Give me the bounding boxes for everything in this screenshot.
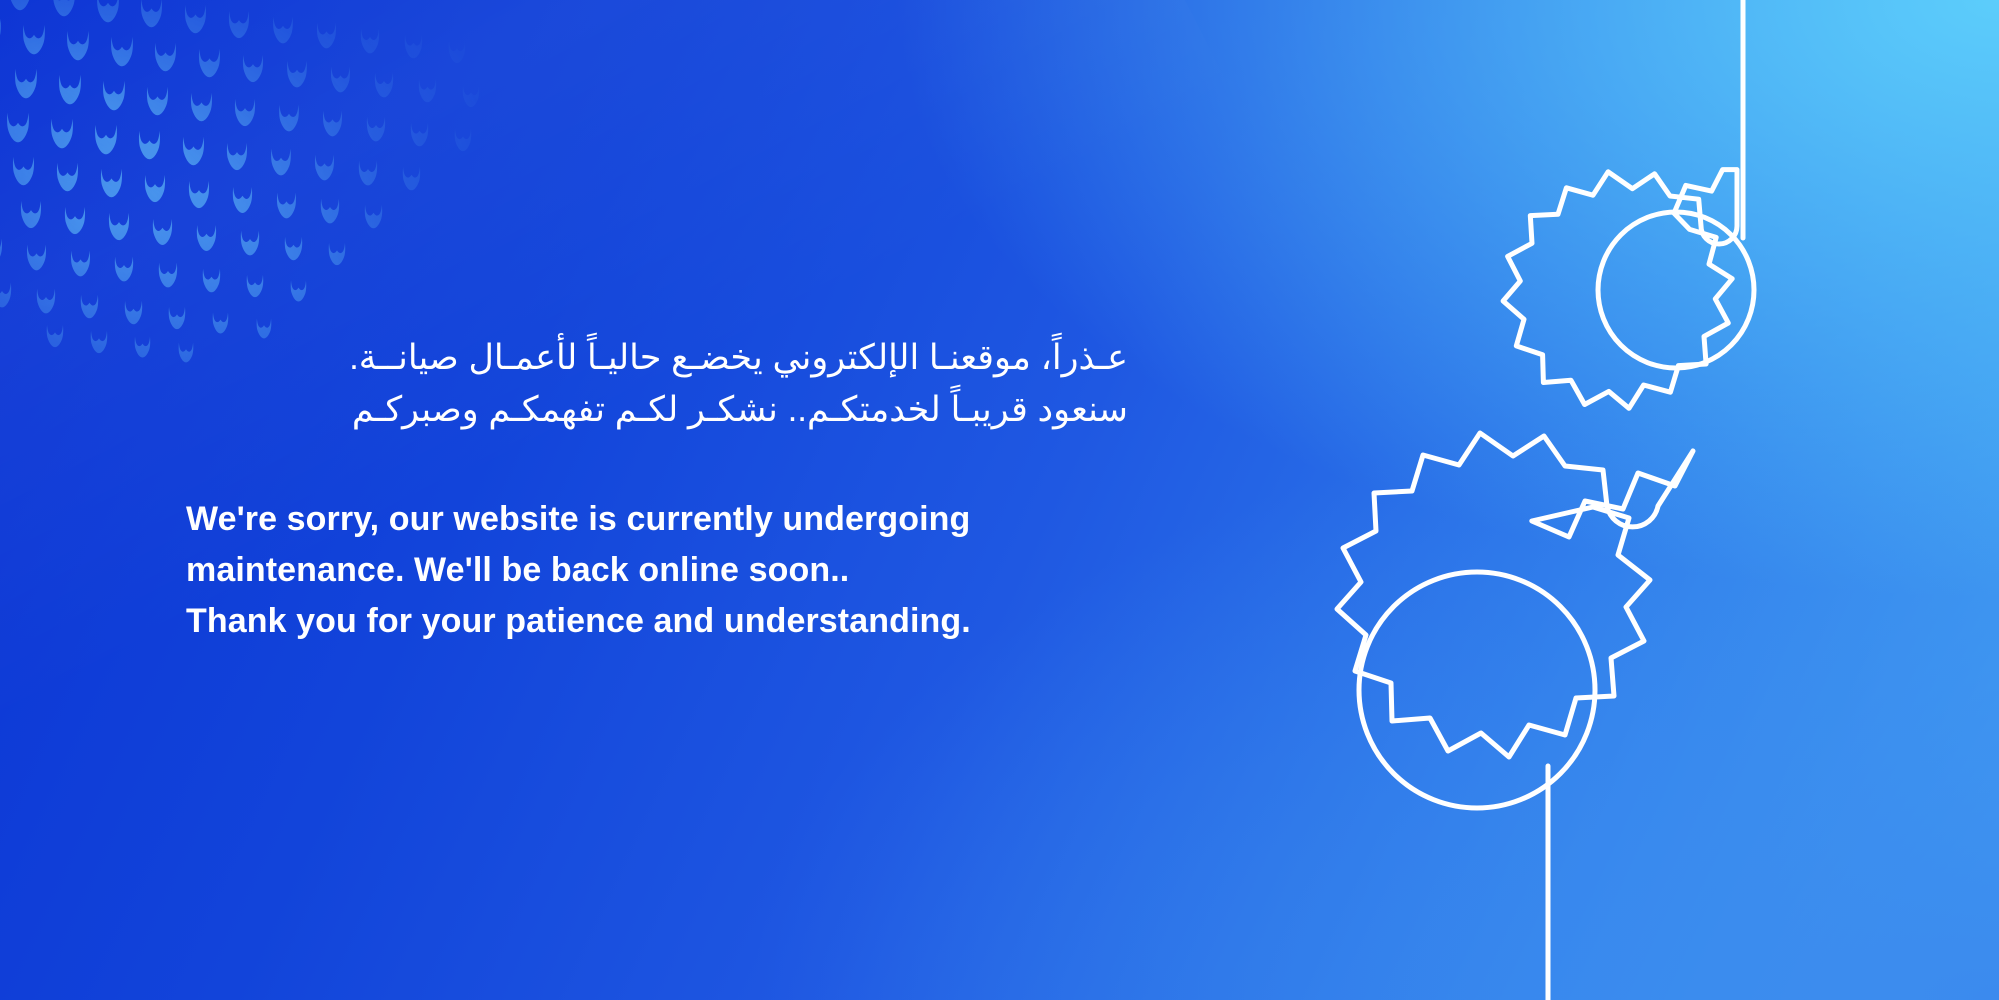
english-line-3: Thank you for your patience and understa… <box>186 596 1146 647</box>
maintenance-page: عـذراً، موقعنـا الإلكتروني يخضـع حاليـاً… <box>0 0 1999 1000</box>
arabic-line-1: عـذراً، موقعنـا الإلكتروني يخضـع حاليـاً… <box>186 332 1128 384</box>
tulip-chevron-pattern <box>0 0 506 386</box>
arabic-line-2: سنعود قريبـاً لخدمتكـم.. نشكـر لكـم تفهم… <box>186 384 1128 436</box>
gear-illustration <box>1239 0 1999 1000</box>
english-line-2: maintenance. We'll be back online soon.. <box>186 545 1146 596</box>
small-gear <box>1503 170 1754 409</box>
message-content: عـذراً، موقعنـا الإلكتروني يخضـع حاليـاً… <box>186 332 1146 647</box>
english-message: We're sorry, our website is currently un… <box>186 494 1146 647</box>
arabic-message: عـذراً، موقعنـا الإلكتروني يخضـع حاليـاً… <box>186 332 1128 436</box>
large-gear <box>1337 433 1693 808</box>
english-line-1: We're sorry, our website is currently un… <box>186 494 1146 545</box>
